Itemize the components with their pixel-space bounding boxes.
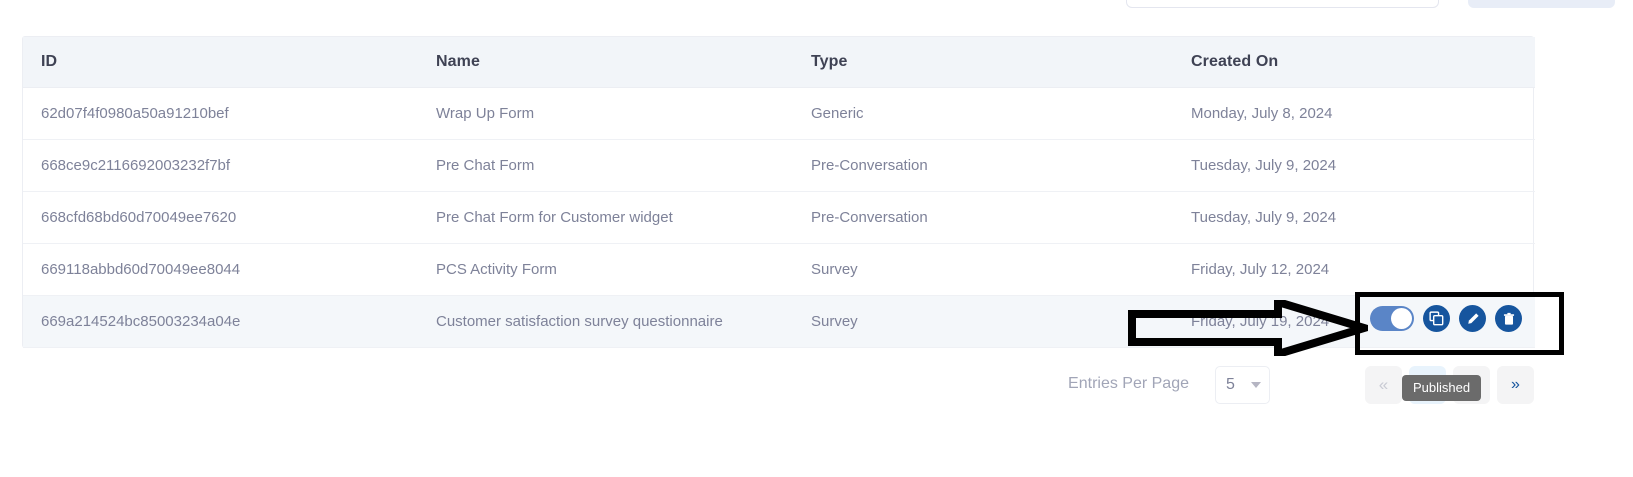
copy-icon (1429, 311, 1444, 326)
column-header-created-on[interactable]: Created On (1173, 37, 1535, 88)
filter-select[interactable] (1126, 0, 1439, 8)
cell-type: Generic (793, 88, 1173, 140)
cell-name: Customer satisfaction survey questionnai… (418, 296, 793, 348)
pencil-icon (1466, 312, 1480, 326)
cell-id: 668cfd68bd60d70049ee7620 (23, 192, 418, 244)
cell-type: Survey (793, 296, 1173, 348)
cell-created-on: Tuesday, July 9, 2024 (1173, 140, 1535, 192)
cell-created-on: Friday, July 12, 2024 (1173, 244, 1535, 296)
table-row-active[interactable]: 669a214524bc85003234a04e Customer satisf… (23, 296, 1535, 348)
table-footer: Entries Per Page 5 « 1 2 » (22, 366, 1534, 406)
delete-button[interactable] (1495, 305, 1522, 332)
top-toolbar (0, 0, 1633, 12)
edit-button[interactable] (1459, 305, 1486, 332)
row-action-group (1370, 305, 1522, 332)
table-header-row: ID Name Type Created On (23, 37, 1535, 88)
table-row[interactable]: 668ce9c2116692003232f7bf Pre Chat Form P… (23, 140, 1535, 192)
cell-name: Wrap Up Form (418, 88, 793, 140)
column-header-type[interactable]: Type (793, 37, 1173, 88)
forms-table: ID Name Type Created On 62d07f4f0980a50a… (23, 37, 1535, 348)
primary-action-button[interactable] (1468, 0, 1615, 8)
cell-created-on: Tuesday, July 9, 2024 (1173, 192, 1535, 244)
cell-id: 668ce9c2116692003232f7bf (23, 140, 418, 192)
cell-created-on: Monday, July 8, 2024 (1173, 88, 1535, 140)
cell-id: 62d07f4f0980a50a91210bef (23, 88, 418, 140)
duplicate-button[interactable] (1423, 305, 1450, 332)
cell-id: 669118abbd60d70049ee8044 (23, 244, 418, 296)
table-row[interactable]: 669118abbd60d70049ee8044 PCS Activity Fo… (23, 244, 1535, 296)
column-header-name[interactable]: Name (418, 37, 793, 88)
cell-name: PCS Activity Form (418, 244, 793, 296)
tooltip-published: Published (1402, 375, 1481, 401)
cell-type: Survey (793, 244, 1173, 296)
entries-per-page-label: Entries Per Page (1068, 375, 1189, 393)
cell-name: Pre Chat Form for Customer widget (418, 192, 793, 244)
forms-table-container: ID Name Type Created On 62d07f4f0980a50a… (22, 36, 1534, 348)
trash-icon (1502, 312, 1516, 326)
entries-per-page-value: 5 (1226, 376, 1235, 394)
column-header-id[interactable]: ID (23, 37, 418, 88)
cell-name: Pre Chat Form (418, 140, 793, 192)
publish-toggle[interactable] (1370, 306, 1414, 331)
pagination-prev[interactable]: « (1365, 366, 1402, 404)
cell-id: 669a214524bc85003234a04e (23, 296, 418, 348)
cell-type: Pre-Conversation (793, 140, 1173, 192)
table-header: ID Name Type Created On (23, 37, 1535, 88)
entries-per-page-select[interactable]: 5 (1215, 366, 1270, 404)
table-row[interactable]: 62d07f4f0980a50a91210bef Wrap Up Form Ge… (23, 88, 1535, 140)
toggle-knob (1391, 308, 1412, 329)
table-row[interactable]: 668cfd68bd60d70049ee7620 Pre Chat Form f… (23, 192, 1535, 244)
table-body: 62d07f4f0980a50a91210bef Wrap Up Form Ge… (23, 88, 1535, 348)
cell-type: Pre-Conversation (793, 192, 1173, 244)
forms-list-page: ID Name Type Created On 62d07f4f0980a50a… (0, 0, 1633, 477)
pagination-next[interactable]: » (1497, 366, 1534, 404)
chevron-down-icon (1251, 382, 1261, 388)
